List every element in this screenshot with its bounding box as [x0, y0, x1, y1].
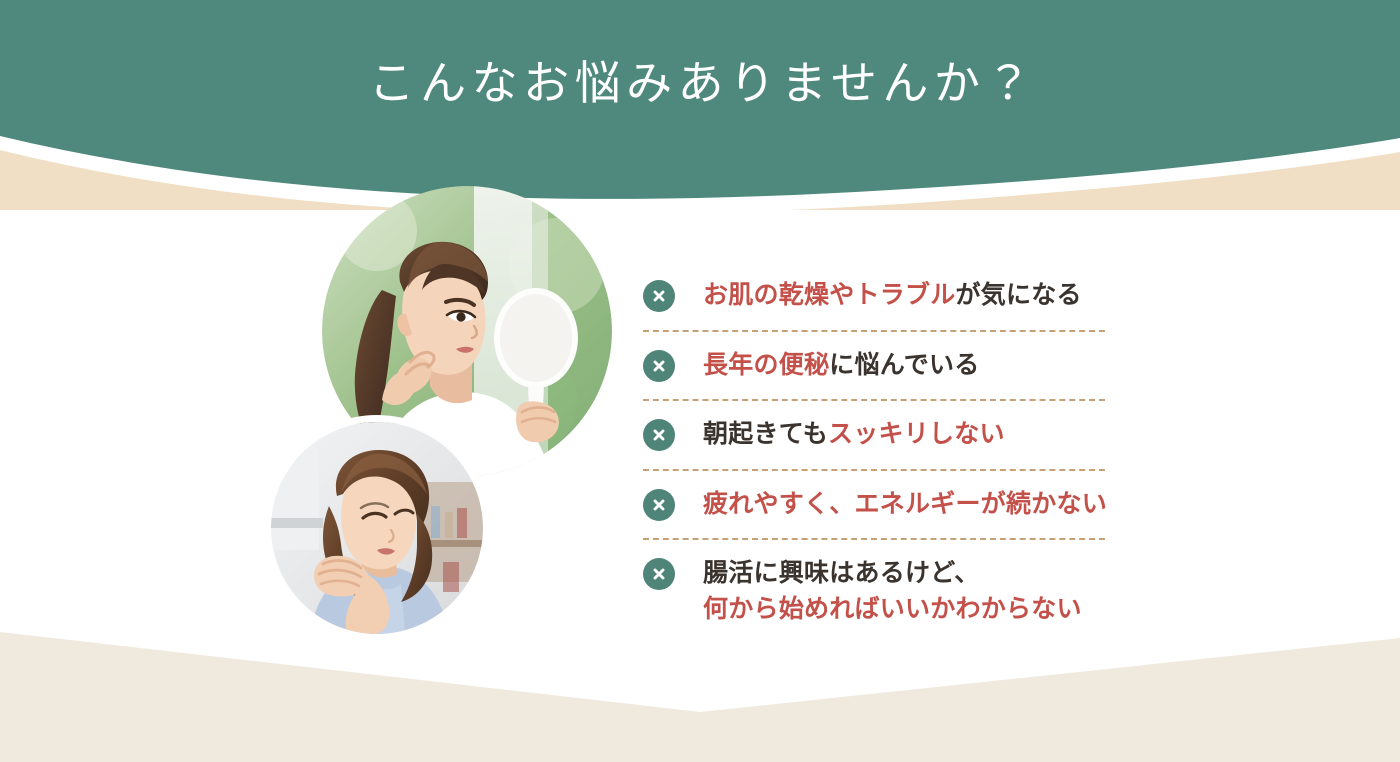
- highlight-text: お肌の乾燥やトラブル: [703, 281, 956, 309]
- checklist-item-body: 長年の便秘に悩んでいる: [643, 330, 1105, 400]
- checklist-item-body: お肌の乾燥やトラブルが気になる: [643, 262, 1105, 330]
- normal-text: 腸活に興味はあるけど、: [703, 559, 980, 587]
- concerns-checklist: お肌の乾燥やトラブルが気になる長年の便秘に悩んでいる朝起きてもスッキリしない疲れ…: [643, 262, 1105, 643]
- x-mark-icon: [643, 558, 675, 590]
- checklist-item-text: 朝起きてもスッキリしない: [703, 417, 1005, 453]
- checklist-item: 疲れやすく、エネルギーが続かない: [643, 469, 1105, 539]
- photo-tired-woman: [271, 422, 483, 634]
- highlight-text: 疲れやすく、エネルギーが続かない: [703, 490, 1107, 518]
- promo-section: こんなお悩みありませんか？: [0, 0, 1400, 762]
- checklist-item-body: 朝起きてもスッキリしない: [643, 399, 1105, 469]
- highlight-text: 何から始めればいいかわからない: [703, 595, 1082, 623]
- photo-group: [0, 0, 700, 762]
- normal-text: に悩んでいる: [829, 351, 979, 379]
- checklist-item-line: 何から始めればいいかわからない: [703, 592, 1082, 628]
- normal-text: が気になる: [956, 281, 1082, 309]
- x-mark-icon: [643, 419, 675, 451]
- x-mark-icon: [643, 489, 675, 521]
- checklist-item-text: お肌の乾燥やトラブルが気になる: [703, 278, 1082, 314]
- checklist-item: 腸活に興味はあるけど、何から始めればいいかわからない: [643, 538, 1105, 643]
- photo-secondary-illustration: [271, 422, 483, 634]
- checklist-item-text: 長年の便秘に悩んでいる: [703, 348, 980, 384]
- checklist-item-text: 疲れやすく、エネルギーが続かない: [703, 487, 1107, 523]
- checklist-item: お肌の乾燥やトラブルが気になる: [643, 262, 1105, 330]
- checklist-item-line: 疲れやすく、エネルギーが続かない: [703, 487, 1107, 523]
- checklist-item: 朝起きてもスッキリしない: [643, 399, 1105, 469]
- normal-text: 朝起きても: [703, 420, 828, 448]
- checklist-item-body: 疲れやすく、エネルギーが続かない: [643, 469, 1105, 539]
- checklist-item-line: お肌の乾燥やトラブルが気になる: [703, 278, 1082, 314]
- checklist-item-body: 腸活に興味はあるけど、何から始めればいいかわからない: [643, 538, 1105, 643]
- checklist-item-line: 長年の便秘に悩んでいる: [703, 348, 980, 384]
- highlight-text: 長年の便秘: [703, 351, 829, 379]
- checklist-item-text: 腸活に興味はあるけど、何から始めればいいかわからない: [703, 556, 1082, 627]
- checklist-item-line: 朝起きてもスッキリしない: [703, 417, 1005, 453]
- checklist-item-line: 腸活に興味はあるけど、: [703, 556, 1082, 592]
- highlight-text: スッキリしない: [828, 420, 1005, 448]
- x-mark-icon: [643, 350, 675, 382]
- x-mark-icon: [643, 280, 675, 312]
- checklist-item: 長年の便秘に悩んでいる: [643, 330, 1105, 400]
